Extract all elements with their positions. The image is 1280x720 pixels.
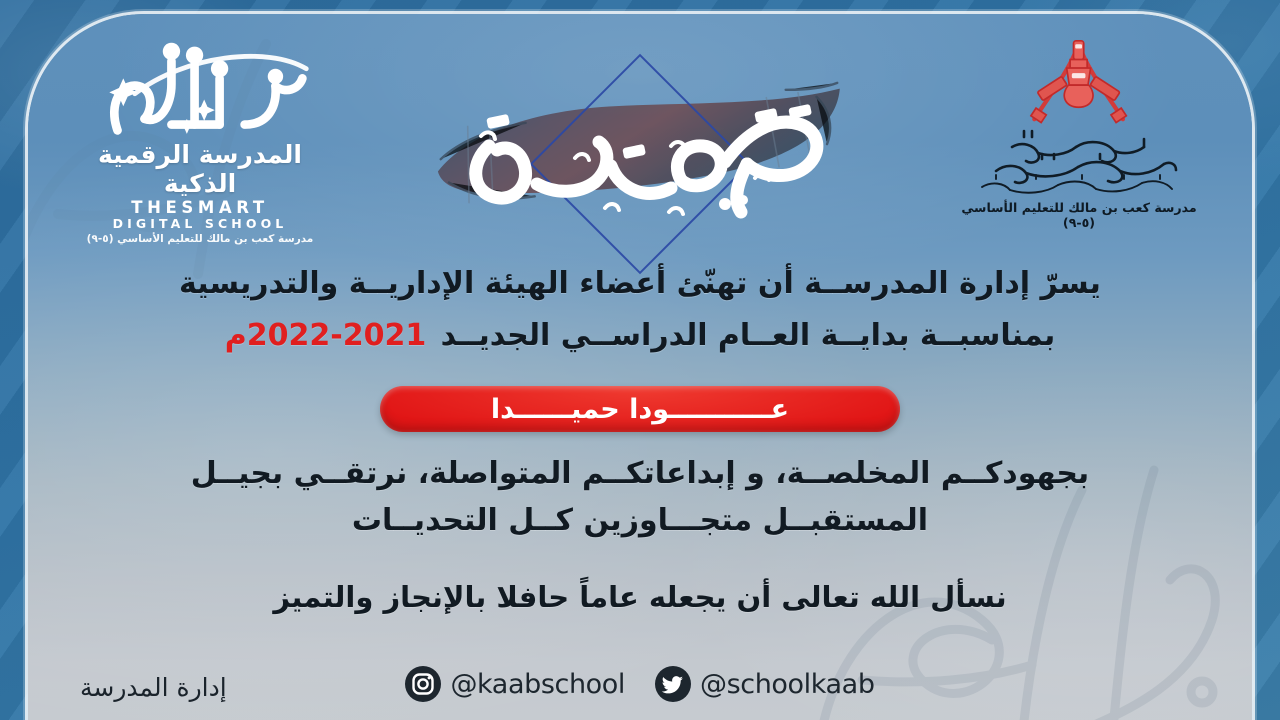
body-text-middle: بجهودكــم المخلصــة، و إبداعاتكــم المتو… xyxy=(88,450,1192,545)
welcome-back-banner: عـــــــــــودا حميــــــدا xyxy=(380,386,900,432)
twitter-handle: @schoolkaab xyxy=(700,669,875,700)
instagram-icon xyxy=(405,666,441,702)
body-line-2-text: بمناسبــة بدايــة العــام الدراســي الجد… xyxy=(441,318,1056,353)
body-line-4: المستقبــل متجـــاوزين كــل التحديــات xyxy=(88,497,1192,544)
social-twitter[interactable]: @schoolkaab xyxy=(655,666,875,702)
inner-card: المدرسة الرقمية الذكية THESMART DIGITAL … xyxy=(28,14,1252,720)
instagram-handle: @kaabschool xyxy=(450,669,625,700)
body-text-upper: يسرّ إدارة المدرســة أن تهنّئ أعضاء الهي… xyxy=(88,262,1192,358)
body-line-3: بجهودكــم المخلصــة، و إبداعاتكــم المتو… xyxy=(88,450,1192,497)
headline-area xyxy=(28,40,1252,250)
body-line-2: بمناسبــة بدايــة العــام الدراســي الجد… xyxy=(88,314,1192,358)
academic-year: 2021-2022م xyxy=(225,318,430,353)
body-line-5: نسأل الله تعالى أن يجعله عاماً حافلا بال… xyxy=(88,576,1192,618)
congratulations-poster: المدرسة الرقمية الذكية THESMART DIGITAL … xyxy=(0,0,1280,720)
body-text-lower: نسأل الله تعالى أن يجعله عاماً حافلا بال… xyxy=(88,576,1192,618)
social-handles: @kaabschool @schoolkaab xyxy=(28,666,1252,702)
twitter-icon xyxy=(655,666,691,702)
social-instagram[interactable]: @kaabschool xyxy=(405,666,625,702)
welcome-banner-row: عـــــــــــودا حميــــــدا xyxy=(28,386,1252,432)
body-line-1: يسرّ إدارة المدرســة أن تهنّئ أعضاء الهي… xyxy=(88,262,1192,306)
